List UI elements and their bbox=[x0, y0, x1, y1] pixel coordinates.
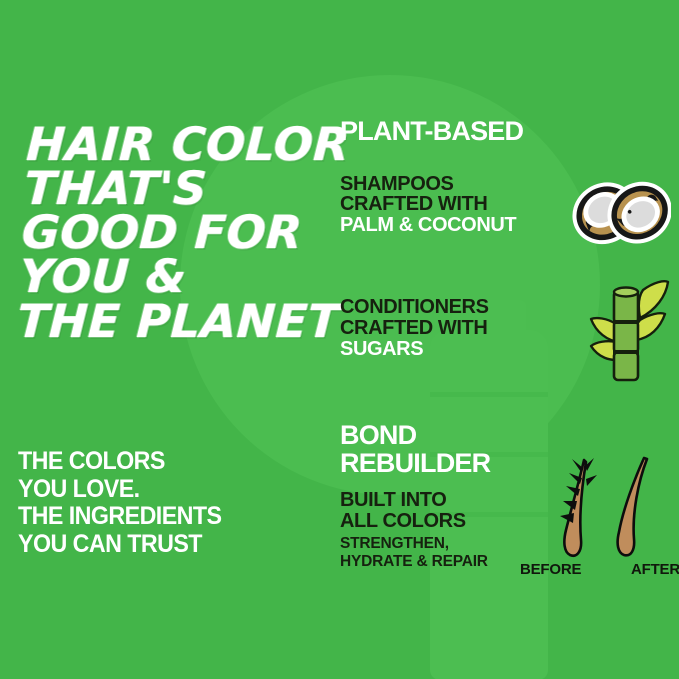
section-conditioners-body-line-2: CRAFTED WITH bbox=[340, 318, 489, 339]
section-conditioners: CONDITIONERS CRAFTED WITH SUGARS bbox=[340, 297, 489, 359]
left-column: HAIR COLOR THAT'S GOOD FOR YOU & THE PLA… bbox=[18, 0, 338, 679]
section-plant-based-body-line-2: CRAFTED WITH bbox=[340, 194, 523, 215]
section-conditioners-body-line-1: CONDITIONERS bbox=[340, 297, 489, 318]
section-bond-rebuilder: BOND REBUILDER BUILT INTO ALL COLORS STR… bbox=[340, 422, 490, 571]
sub-headline: THE COLORS YOU LOVE. THE INGREDIENTS YOU… bbox=[18, 448, 221, 558]
headline-line-2: THAT'S bbox=[23, 166, 348, 210]
before-label: BEFORE bbox=[520, 561, 581, 578]
hair-strands-icon bbox=[528, 452, 673, 562]
subheadline-line-2: YOU LOVE. bbox=[18, 476, 221, 504]
section-bond-rebuilder-title-line-2: REBUILDER bbox=[340, 450, 490, 478]
sugarcane-icon bbox=[580, 280, 676, 382]
subheadline-line-4: YOU CAN TRUST bbox=[18, 531, 221, 559]
section-plant-based-title-line-1: PLANT-BASED bbox=[340, 118, 523, 146]
subheadline-line-1: THE COLORS bbox=[18, 448, 221, 476]
section-plant-based-title: PLANT-BASED bbox=[340, 118, 523, 146]
poster-canvas: HAIR COLOR THAT'S GOOD FOR YOU & THE PLA… bbox=[0, 0, 679, 679]
section-bond-rebuilder-fine-line-1: STRENGTHEN, bbox=[340, 535, 490, 553]
section-conditioners-emphasis: SUGARS bbox=[340, 339, 489, 360]
headline-line-3: GOOD FOR bbox=[21, 210, 346, 254]
headline-line-5: THE PLANET bbox=[16, 299, 341, 343]
section-plant-based: PLANT-BASED SHAMPOOS CRAFTED WITH PALM &… bbox=[340, 118, 523, 236]
hair-comparison-labels: BEFORE AFTER bbox=[520, 561, 679, 578]
subheadline-line-3: THE INGREDIENTS bbox=[18, 503, 221, 531]
headline-line-4: YOU & bbox=[19, 254, 344, 298]
section-bond-rebuilder-body: BUILT INTO ALL COLORS bbox=[340, 490, 490, 532]
section-bond-rebuilder-body-line-2: ALL COLORS bbox=[340, 511, 490, 532]
hair-strand-after bbox=[618, 458, 647, 555]
section-bond-rebuilder-body-line-1: BUILT INTO bbox=[340, 490, 490, 511]
section-bond-rebuilder-title: BOND REBUILDER bbox=[340, 422, 490, 477]
headline-line-1: HAIR COLOR bbox=[25, 122, 350, 166]
section-plant-based-body-line-1: SHAMPOOS bbox=[340, 174, 523, 195]
section-plant-based-body: SHAMPOOS CRAFTED WITH PALM & COCONUT bbox=[340, 174, 523, 236]
section-bond-rebuilder-title-line-1: BOND bbox=[340, 422, 490, 450]
section-bond-rebuilder-fine-print: STRENGTHEN, HYDRATE & REPAIR bbox=[340, 535, 490, 572]
coconut-icon bbox=[566, 162, 671, 262]
hair-strand-before bbox=[560, 458, 597, 556]
section-conditioners-body: CONDITIONERS CRAFTED WITH SUGARS bbox=[340, 297, 489, 359]
after-label: AFTER bbox=[631, 561, 679, 578]
main-headline: HAIR COLOR THAT'S GOOD FOR YOU & THE PLA… bbox=[16, 122, 350, 343]
section-plant-based-emphasis: PALM & COCONUT bbox=[340, 215, 523, 236]
section-bond-rebuilder-fine-line-2: HYDRATE & REPAIR bbox=[340, 553, 490, 571]
